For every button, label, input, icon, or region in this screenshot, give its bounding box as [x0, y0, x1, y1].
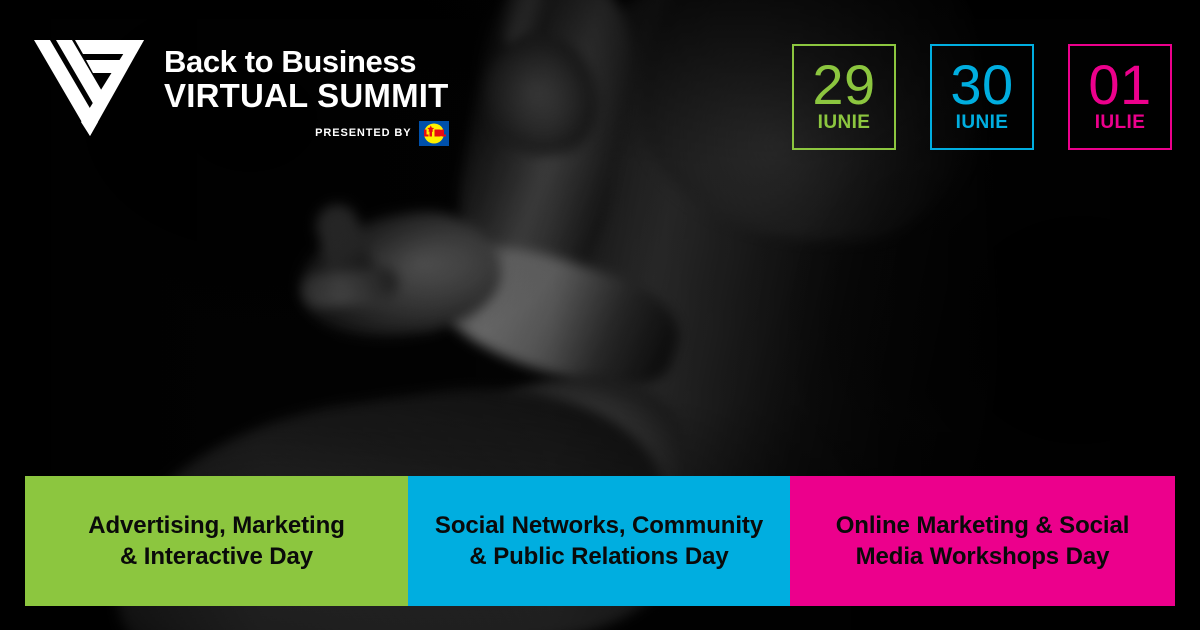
track-label: Online Marketing & Social Media Workshop…	[836, 510, 1130, 572]
date-chip-month: IUNIE	[818, 113, 871, 134]
presented-by-row: PRESENTED BY	[164, 121, 449, 146]
presented-by-label: PRESENTED BY	[315, 127, 411, 139]
event-banner: Back to Business VIRTUAL SUMMIT PRESENTE…	[0, 0, 1200, 630]
logo-lockup[interactable]: Back to Business VIRTUAL SUMMIT PRESENTE…	[28, 26, 449, 148]
event-dates: 29 IUNIE 30 IUNIE 01 IULIE	[792, 44, 1172, 150]
lidl-logo-icon	[419, 121, 449, 146]
track-bar-social-networks-community-pr[interactable]: Social Networks, Community & Public Rela…	[408, 476, 790, 606]
track-label: Advertising, Marketing & Interactive Day	[88, 510, 345, 572]
date-chip-day: 29	[812, 58, 875, 111]
track-bar-advertising-marketing-interactive[interactable]: Advertising, Marketing & Interactive Day	[25, 476, 408, 606]
v7-triangle-logo-icon	[28, 26, 150, 148]
track-label-line2: Media Workshops Day	[856, 543, 1110, 570]
date-chip-day: 01	[1088, 58, 1151, 111]
date-chip-day: 30	[950, 58, 1013, 111]
track-label-line2: & Interactive Day	[120, 543, 313, 570]
logo-title-line2: VIRTUAL SUMMIT	[164, 78, 449, 114]
date-chip-29-iunie[interactable]: 29 IUNIE	[792, 44, 896, 150]
date-chip-month: IULIE	[1095, 113, 1146, 134]
track-bars: Advertising, Marketing & Interactive Day…	[25, 476, 1175, 606]
date-chip-01-iulie[interactable]: 01 IULIE	[1068, 44, 1172, 150]
track-label-line1: Social Networks, Community	[435, 512, 763, 539]
track-label-line1: Advertising, Marketing	[88, 512, 345, 539]
logo-title-line1: Back to Business	[164, 46, 449, 78]
date-chip-month: IUNIE	[956, 113, 1009, 134]
date-chip-30-iunie[interactable]: 30 IUNIE	[930, 44, 1034, 150]
track-label: Social Networks, Community & Public Rela…	[435, 510, 763, 572]
track-bar-online-marketing-social-media-workshops[interactable]: Online Marketing & Social Media Workshop…	[790, 476, 1175, 606]
track-label-line1: Online Marketing & Social	[836, 512, 1130, 539]
logo-text-block: Back to Business VIRTUAL SUMMIT PRESENTE…	[164, 26, 449, 146]
track-label-line2: & Public Relations Day	[469, 543, 728, 570]
